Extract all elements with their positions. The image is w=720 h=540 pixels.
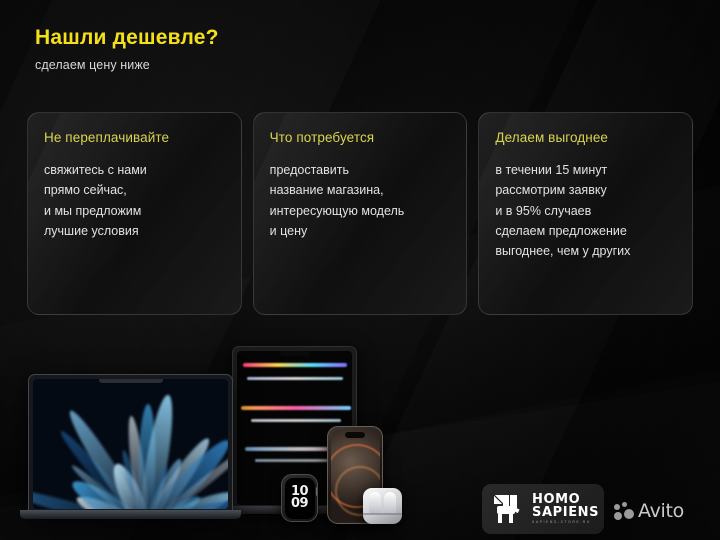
airpod-left — [369, 492, 381, 514]
promo-banner: Нашли дешевле? сделаем цену ниже Не пере… — [0, 0, 720, 540]
airpod-right — [384, 492, 396, 514]
apple-watch-crown — [316, 487, 318, 496]
apple-watch-device: 10 09 — [281, 474, 318, 522]
macbook-air-notch — [99, 379, 163, 383]
airpods-case-seam — [363, 513, 402, 515]
airpods-pro-device — [363, 488, 402, 524]
avito-wordmark: Avito — [638, 500, 684, 522]
store-logo-text: HOMO SAPIENS SAPIENS-STORE.RU — [532, 493, 599, 525]
page-title: Нашли дешевле? — [35, 26, 219, 49]
page-subtitle: сделаем цену ниже — [35, 58, 219, 72]
macbook-air-device — [28, 374, 233, 514]
info-card-body: в течении 15 минут рассмотрим заявку и в… — [495, 160, 676, 261]
info-card-heading: Не переплачивайте — [44, 130, 225, 145]
iphone-dynamic-island — [345, 432, 365, 438]
info-card-no-overpay: Не переплачивайте свяжитесь с нами прямо… — [27, 112, 242, 315]
store-logo: HOMO SAPIENS SAPIENS-STORE.RU — [482, 484, 604, 534]
homo-sapiens-figure-icon — [491, 492, 525, 526]
info-card-better-offer: Делаем выгоднее в течении 15 минут рассм… — [478, 112, 693, 315]
info-card-list: Не переплачивайте свяжитесь с нами прямо… — [27, 112, 693, 315]
info-card-heading: Делаем выгоднее — [495, 130, 676, 145]
product-lineup-image: 10 09 — [0, 330, 470, 540]
store-logo-url: SAPIENS-STORE.RU — [532, 521, 599, 525]
macbook-pro-notch — [280, 351, 310, 356]
info-card-heading: Что потребуется — [270, 130, 451, 145]
apple-watch-time-minutes: 09 — [291, 498, 308, 510]
macbook-air-base — [20, 510, 241, 519]
header: Нашли дешевле? сделаем цену ниже — [35, 26, 219, 72]
macbook-air-screen — [33, 379, 228, 509]
store-logo-line2: SAPIENS — [532, 506, 599, 519]
info-card-requirements: Что потребуется предоставить название ма… — [253, 112, 468, 315]
apple-watch-face: 10 09 — [285, 478, 315, 519]
info-card-body: свяжитесь с нами прямо сейчас, и мы пред… — [44, 160, 225, 241]
info-card-body: предоставить название магазина, интересу… — [270, 160, 451, 241]
avito-watermark: Avito — [614, 500, 684, 522]
avito-logo-icon — [614, 502, 634, 520]
